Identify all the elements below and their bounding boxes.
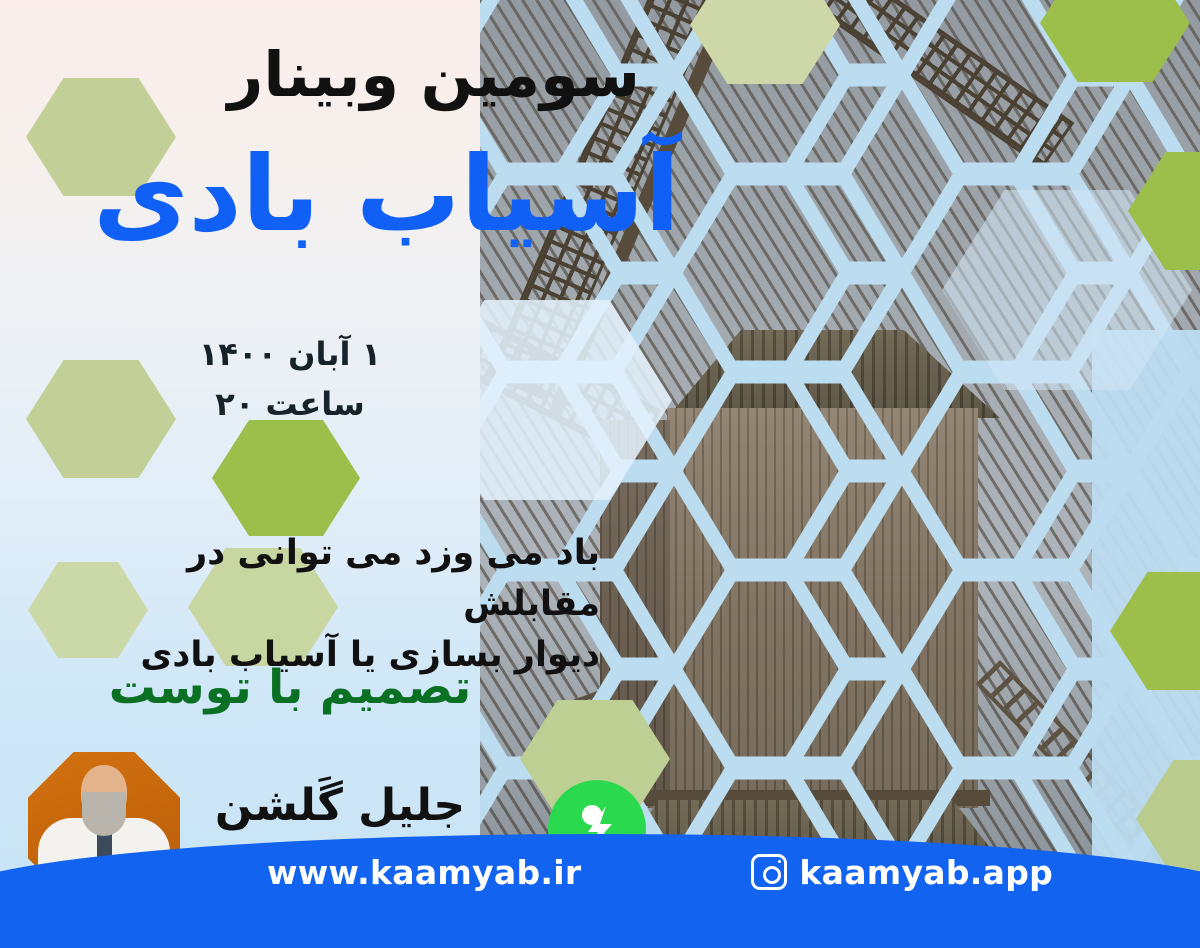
poster-quote: باد می وزد می توانی در مقابلش دیوار بساز…: [60, 528, 600, 680]
poster-kicker: سومین وبینار: [120, 42, 640, 107]
windmill-stairs-right: [976, 660, 1160, 849]
event-time: ساعت ۲۰: [80, 380, 500, 430]
poster-title: آسیاب بادی: [0, 140, 680, 248]
instagram-link[interactable]: kaamyab.app: [751, 853, 1053, 892]
website-label: www.kaamyab.ir: [267, 853, 581, 892]
windmill-body: [648, 408, 978, 808]
hex-center-up: [212, 420, 360, 536]
poster-slogan: تصمیم با توست: [70, 660, 510, 715]
instagram-label: kaamyab.app: [799, 853, 1053, 892]
windmill-cap-roof: [630, 330, 1000, 418]
webinar-poster: سومین وبینار آسیاب بادی ۱ آبان ۱۴۰۰ ساعت…: [0, 0, 1200, 948]
event-date: ۱ آبان ۱۴۰۰: [80, 330, 500, 380]
footer-links: www.kaamyab.ir kaamyab.app: [60, 842, 1200, 902]
quote-line-1: باد می وزد می توانی در مقابلش: [60, 528, 600, 630]
event-datetime: ۱ آبان ۱۴۰۰ ساعت ۲۰: [80, 330, 500, 429]
website-link[interactable]: www.kaamyab.ir: [267, 853, 581, 892]
avatar-beard: [82, 792, 126, 836]
speaker-name-label: جلیل گَلشن: [180, 780, 500, 831]
instagram-icon: [751, 854, 787, 890]
